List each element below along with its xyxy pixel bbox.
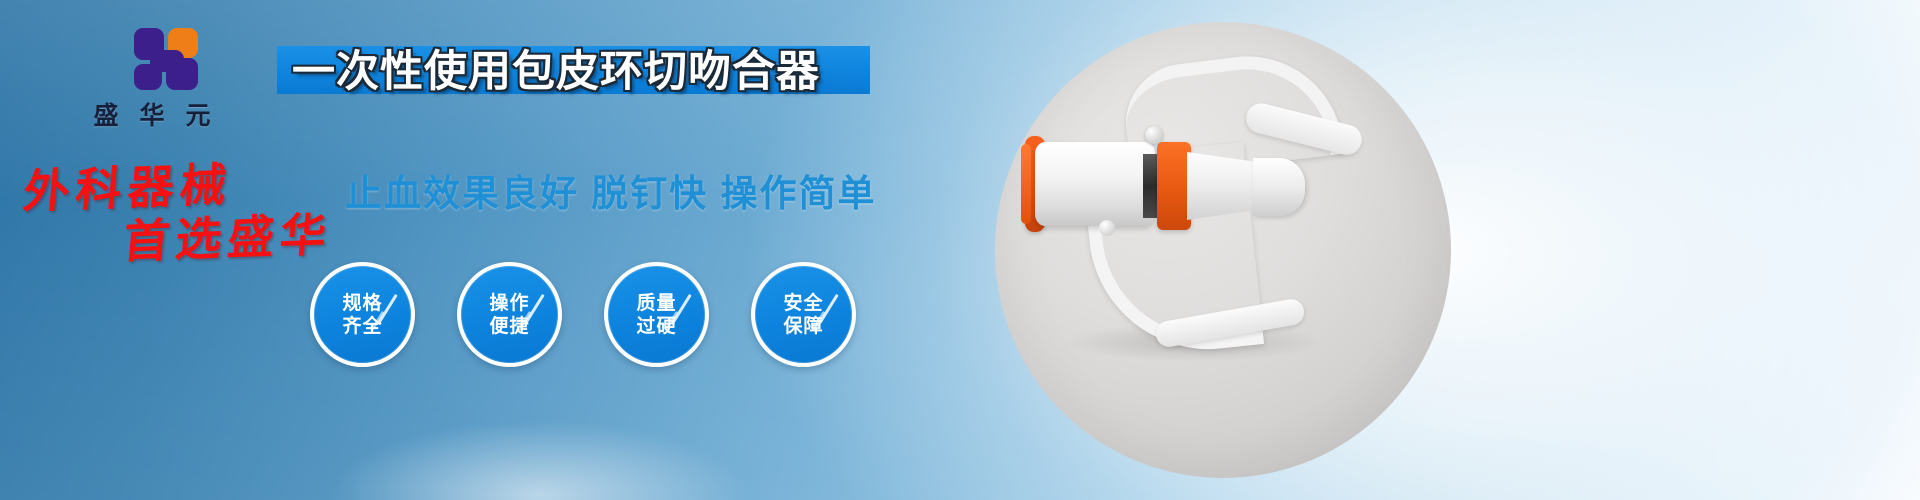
badge-label-line2: 便捷 xyxy=(489,315,529,338)
calligraphy-line-2: 首选盛华 xyxy=(121,198,336,271)
device-pivot-icon xyxy=(1145,126,1163,144)
badge-label-line1: 质量 xyxy=(636,292,676,315)
promo-banner: 盛 华 元 一次性使用包皮环切吻合器 外科器械 首选盛华 止血效果良好 脱钉快 … xyxy=(0,0,1920,500)
background-glow xyxy=(330,420,750,500)
device-orange-ring-inner xyxy=(1021,144,1031,224)
logo-mark-icon xyxy=(106,28,198,90)
device-barrel xyxy=(1035,142,1155,226)
device-hinge-icon xyxy=(1099,220,1115,236)
device-taper xyxy=(1187,152,1263,220)
badge-label-line1: 操作 xyxy=(489,292,529,315)
badge-label-line2: 过硬 xyxy=(636,315,676,338)
logo-block-purple-2 xyxy=(134,64,162,90)
brand-logo[interactable]: 盛 华 元 xyxy=(62,28,242,132)
subtitle: 止血效果良好 脱钉快 操作简单 xyxy=(345,163,877,217)
badge-label-line2: 齐全 xyxy=(342,315,382,338)
badge-label-line1: 安全 xyxy=(783,292,823,315)
brand-name: 盛 华 元 xyxy=(62,96,242,132)
badge-label-line1: 规格 xyxy=(342,292,382,315)
feature-badge-quality[interactable]: 质量 过硬 xyxy=(604,262,709,367)
feature-badge-specification[interactable]: 规格 齐全 xyxy=(310,262,415,367)
feature-badge-list: 规格 齐全 操作 便捷 质量 过硬 安全 保障 xyxy=(310,262,856,367)
product-photo xyxy=(995,22,1451,478)
badge-label-line2: 保障 xyxy=(783,315,823,338)
logo-block-purple-3 xyxy=(166,58,198,90)
device-tip xyxy=(1253,158,1305,216)
device-orange-collar xyxy=(1157,142,1191,230)
feature-badge-safety[interactable]: 安全 保障 xyxy=(751,262,856,367)
feature-badge-operation[interactable]: 操作 便捷 xyxy=(457,262,562,367)
page-title: 一次性使用包皮环切吻合器 xyxy=(292,44,892,100)
